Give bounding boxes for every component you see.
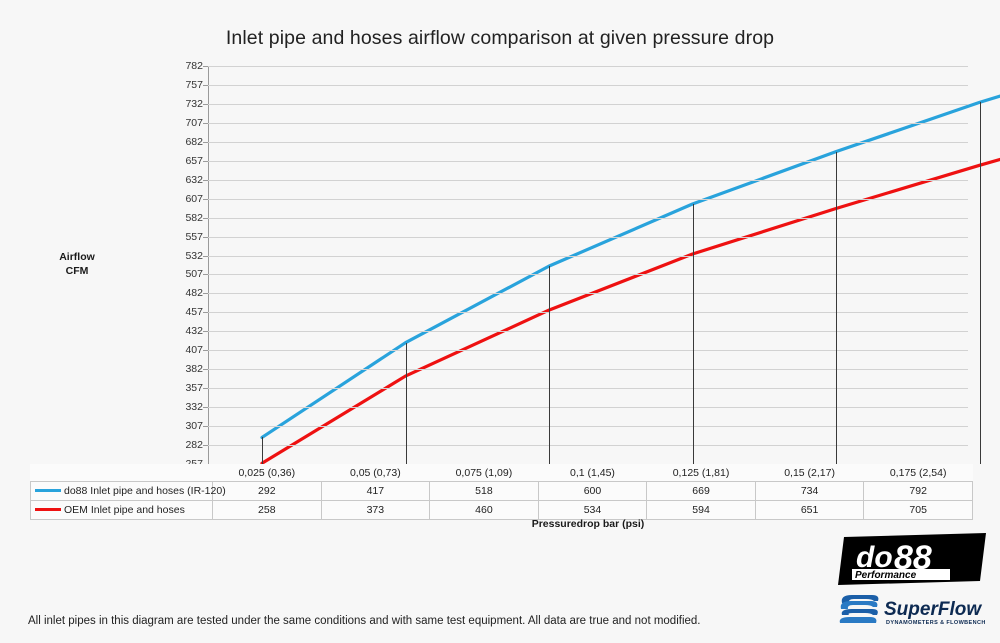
- y-axis-tick-label: 332: [161, 402, 203, 412]
- y-axis-tick-label: 557: [161, 232, 203, 242]
- gridline: [208, 142, 968, 143]
- category-dropline: [980, 102, 981, 464]
- table-cell-value: 292: [213, 482, 322, 501]
- y-axis-labels: 2572823073323573824074324574825075325575…: [158, 66, 203, 465]
- y-axis-tick: [203, 123, 208, 124]
- gridline: [208, 369, 968, 370]
- category-dropline: [693, 204, 694, 464]
- y-axis-tick-label: 657: [161, 156, 203, 166]
- y-axis-tick-label: 507: [161, 269, 203, 279]
- do88-logo-tagline: Performance: [855, 570, 917, 581]
- y-axis-tick-label: 307: [161, 421, 203, 431]
- series-lines: [208, 66, 968, 464]
- gridline: [208, 350, 968, 351]
- gridline: [208, 426, 968, 427]
- y-axis-tick: [203, 350, 208, 351]
- y-axis-tick: [203, 85, 208, 86]
- table-cell-value: 258: [213, 501, 322, 520]
- x-axis-category-label: 0,075 (1,09): [430, 464, 539, 482]
- y-axis-tick-label: 532: [161, 251, 203, 261]
- y-axis-tick: [203, 180, 208, 181]
- category-dropline: [549, 266, 550, 464]
- y-axis-tick: [203, 426, 208, 427]
- y-axis-tick: [203, 312, 208, 313]
- category-dropline: [262, 437, 263, 464]
- y-axis-tick: [203, 293, 208, 294]
- y-axis-tick-label: 607: [161, 194, 203, 204]
- x-axis-category-label: 0,15 (2,17): [755, 464, 864, 482]
- gridline: [208, 123, 968, 124]
- y-axis-tick-label: 407: [161, 345, 203, 355]
- table-cell-value: 705: [864, 501, 973, 520]
- y-axis-tick: [203, 142, 208, 143]
- y-axis-tick: [203, 199, 208, 200]
- y-axis-tick-label: 782: [161, 61, 203, 71]
- y-axis-tick-label: 382: [161, 364, 203, 374]
- y-axis-tick: [203, 237, 208, 238]
- y-axis-tick: [203, 218, 208, 219]
- gridline: [208, 388, 968, 389]
- y-axis-tick: [203, 256, 208, 257]
- table-cell-value: 669: [647, 482, 756, 501]
- y-axis-tick: [203, 369, 208, 370]
- x-axis-category-label: 0,05 (0,73): [321, 464, 430, 482]
- legend-label: do88 Inlet pipe and hoses (IR-120): [64, 485, 226, 497]
- y-axis-title-line2: CFM: [22, 264, 132, 278]
- table-row: OEM Inlet pipe and hoses2583734605345946…: [31, 501, 973, 520]
- do88-logo-svg: do 88 Performance: [836, 533, 986, 585]
- gridline: [208, 331, 968, 332]
- y-axis-tick-label: 757: [161, 80, 203, 90]
- y-axis-tick: [203, 66, 208, 67]
- gridline: [208, 445, 968, 446]
- table-cell-value: 792: [864, 482, 973, 501]
- footer-note: All inlet pipes in this diagram are test…: [28, 615, 701, 627]
- superflow-logo-svg: SuperFlow DYNAMOMETERS & FLOWBENCHES: [836, 591, 986, 633]
- y-axis-tick: [203, 388, 208, 389]
- gridline: [208, 66, 968, 67]
- y-axis-title: Airflow CFM: [22, 250, 132, 278]
- table-cell-value: 600: [538, 482, 647, 501]
- gridline: [208, 104, 968, 105]
- x-axis-category-label: 0,175 (2,54): [864, 464, 973, 482]
- gridline: [208, 312, 968, 313]
- gridline: [208, 85, 968, 86]
- superflow-logo-tagline: DYNAMOMETERS & FLOWBENCHES: [886, 620, 986, 626]
- table-header-corner: [31, 464, 213, 482]
- table-cell-value: 651: [755, 501, 864, 520]
- x-axis-title: Pressuredrop bar (psi): [208, 518, 968, 530]
- table-cell-value: 734: [755, 482, 864, 501]
- y-axis-title-line1: Airflow: [22, 250, 132, 264]
- data-table-body: 0,025 (0,36)0,05 (0,73)0,075 (1,09)0,1 (…: [31, 464, 973, 520]
- y-axis-tick-label: 682: [161, 137, 203, 147]
- y-axis-tick-label: 357: [161, 383, 203, 393]
- do88-logo: do 88 Performance: [836, 533, 986, 585]
- gridline: [208, 274, 968, 275]
- gridline: [208, 237, 968, 238]
- y-axis-tick: [203, 407, 208, 408]
- y-axis-tick-label: 432: [161, 326, 203, 336]
- y-axis-tick: [203, 445, 208, 446]
- legend-label: OEM Inlet pipe and hoses: [64, 504, 185, 516]
- table-row: do88 Inlet pipe and hoses (IR-120)292417…: [31, 482, 973, 501]
- page-title: Inlet pipe and hoses airflow comparison …: [0, 27, 1000, 50]
- legend-entry: OEM Inlet pipe and hoses: [31, 501, 213, 520]
- gridline: [208, 199, 968, 200]
- y-axis-tick: [203, 104, 208, 105]
- superflow-logo: SuperFlow DYNAMOMETERS & FLOWBENCHES: [836, 591, 986, 633]
- legend-swatch-icon: [35, 508, 61, 511]
- y-axis-tick-label: 632: [161, 175, 203, 185]
- y-axis-tick: [203, 274, 208, 275]
- y-axis-tick-label: 457: [161, 307, 203, 317]
- table-cell-value: 460: [430, 501, 539, 520]
- legend-swatch-icon: [35, 489, 61, 492]
- table-cell-value: 373: [321, 501, 430, 520]
- y-axis-tick-label: 482: [161, 288, 203, 298]
- x-axis-category-label: 0,125 (1,81): [647, 464, 756, 482]
- table-cell-value: 518: [430, 482, 539, 501]
- gridline: [208, 161, 968, 162]
- gridline: [208, 180, 968, 181]
- table-header-row: 0,025 (0,36)0,05 (0,73)0,075 (1,09)0,1 (…: [31, 464, 973, 482]
- category-dropline: [836, 152, 837, 464]
- category-dropline: [406, 343, 407, 464]
- y-axis-tick-label: 707: [161, 118, 203, 128]
- data-table: 0,025 (0,36)0,05 (0,73)0,075 (1,09)0,1 (…: [30, 464, 973, 520]
- gridline: [208, 293, 968, 294]
- table-cell-value: 417: [321, 482, 430, 501]
- legend-entry: do88 Inlet pipe and hoses (IR-120): [31, 482, 213, 501]
- y-axis-tick-label: 582: [161, 213, 203, 223]
- y-axis-tick-label: 282: [161, 440, 203, 450]
- plot-area: [208, 66, 968, 464]
- y-axis-tick-label: 732: [161, 99, 203, 109]
- superflow-logo-text: SuperFlow: [884, 599, 982, 620]
- series-line-do88: [262, 58, 1000, 437]
- y-axis-tick: [203, 331, 208, 332]
- gridline: [208, 256, 968, 257]
- table-cell-value: 534: [538, 501, 647, 520]
- x-axis-category-label: 0,025 (0,36): [213, 464, 322, 482]
- y-axis-tick: [203, 161, 208, 162]
- gridline: [208, 407, 968, 408]
- gridline: [208, 218, 968, 219]
- table-cell-value: 594: [647, 501, 756, 520]
- x-axis-category-label: 0,1 (1,45): [538, 464, 647, 482]
